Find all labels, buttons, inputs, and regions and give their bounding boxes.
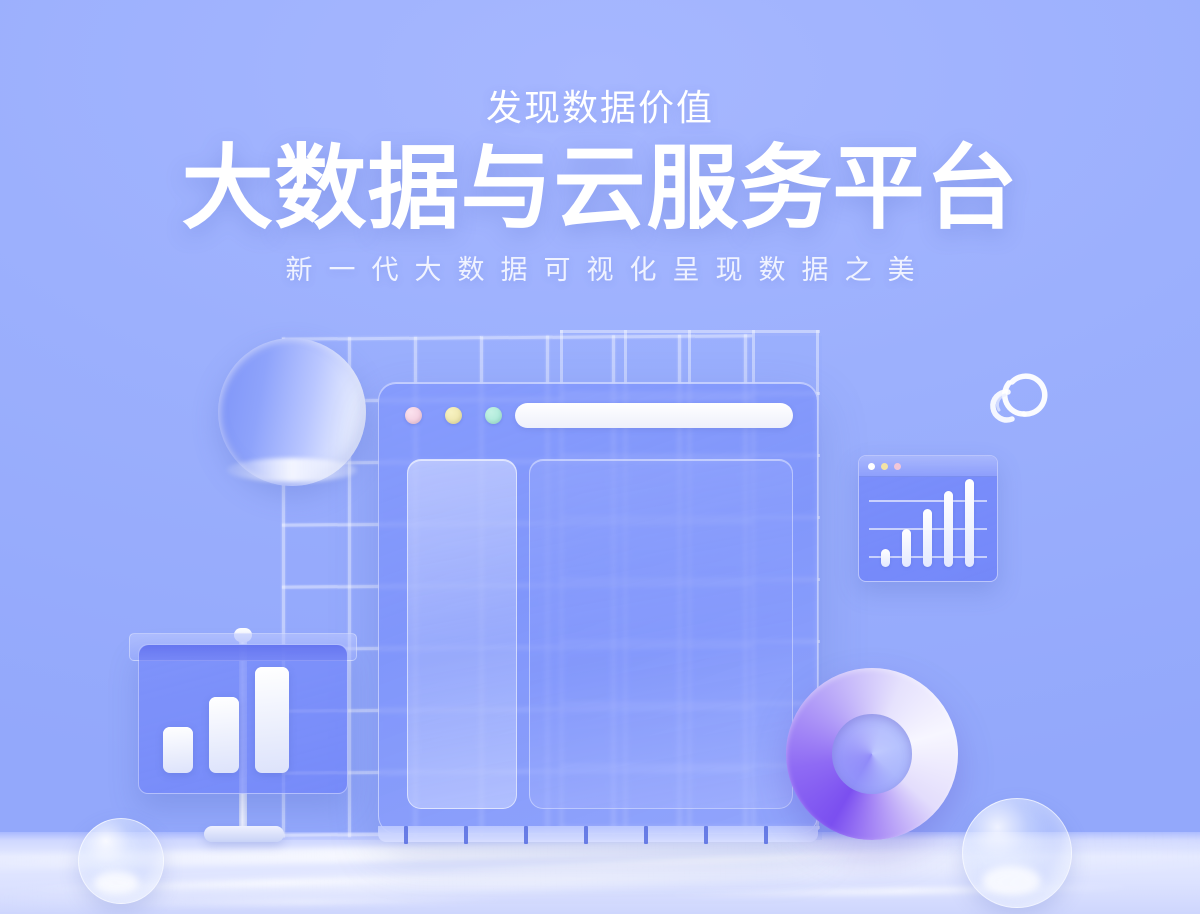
content-panel[interactable] bbox=[529, 459, 793, 809]
hero-tagline: 新一代大数据可视化呈现数据之美 bbox=[0, 248, 1200, 287]
cloud-icon bbox=[978, 364, 1062, 430]
window-leg bbox=[464, 826, 468, 844]
glass-sphere-right bbox=[962, 798, 1072, 908]
maximize-dot[interactable] bbox=[485, 407, 502, 424]
browser-title-bar bbox=[379, 383, 817, 445]
browser-window-mockup[interactable] bbox=[378, 382, 818, 834]
mini-bar-chart bbox=[859, 476, 997, 581]
card-dot-2[interactable] bbox=[881, 463, 888, 470]
hero-text-block: 发现数据价值 大数据与云服务平台 新一代大数据可视化呈现数据之美 bbox=[0, 86, 1200, 287]
bar-3 bbox=[923, 509, 932, 567]
window-leg bbox=[584, 826, 588, 844]
mini-card-title-bar bbox=[859, 456, 997, 477]
panel-bar-chart-card[interactable] bbox=[138, 644, 348, 794]
donut-chart-ring bbox=[786, 668, 958, 840]
gradient-disc bbox=[218, 338, 366, 486]
page-title: 大数据与云服务平台 bbox=[0, 141, 1200, 238]
minimize-dot[interactable] bbox=[445, 407, 462, 424]
close-dot[interactable] bbox=[405, 407, 422, 424]
bar-4 bbox=[944, 491, 953, 567]
floor-highlight-streak bbox=[432, 846, 1008, 874]
bar-b bbox=[209, 697, 239, 773]
window-leg bbox=[764, 826, 768, 844]
window-leg bbox=[644, 826, 648, 844]
window-base bbox=[378, 826, 818, 842]
hero-banner: 发现数据价值 大数据与云服务平台 新一代大数据可视化呈现数据之美 bbox=[0, 0, 1200, 914]
floor-highlight-streak bbox=[660, 884, 1140, 898]
hero-eyebrow: 发现数据价值 bbox=[0, 86, 1200, 129]
bar-c bbox=[255, 667, 289, 773]
window-leg bbox=[404, 826, 408, 844]
bar-1 bbox=[881, 549, 890, 567]
bar-a bbox=[163, 727, 193, 773]
display-stand-foot bbox=[204, 826, 284, 842]
mini-chart-card[interactable] bbox=[858, 455, 998, 582]
window-leg bbox=[524, 826, 528, 844]
url-bar-input[interactable] bbox=[515, 403, 793, 428]
card-dot-1[interactable] bbox=[868, 463, 875, 470]
floor-highlight-streak bbox=[96, 897, 516, 907]
glass-sphere-left bbox=[78, 818, 164, 904]
bar-5 bbox=[965, 479, 974, 567]
sidebar-panel[interactable] bbox=[407, 459, 517, 809]
window-leg bbox=[704, 826, 708, 844]
panel-title-bar bbox=[139, 645, 347, 661]
bar-2 bbox=[902, 529, 911, 567]
card-dot-3[interactable] bbox=[894, 463, 901, 470]
